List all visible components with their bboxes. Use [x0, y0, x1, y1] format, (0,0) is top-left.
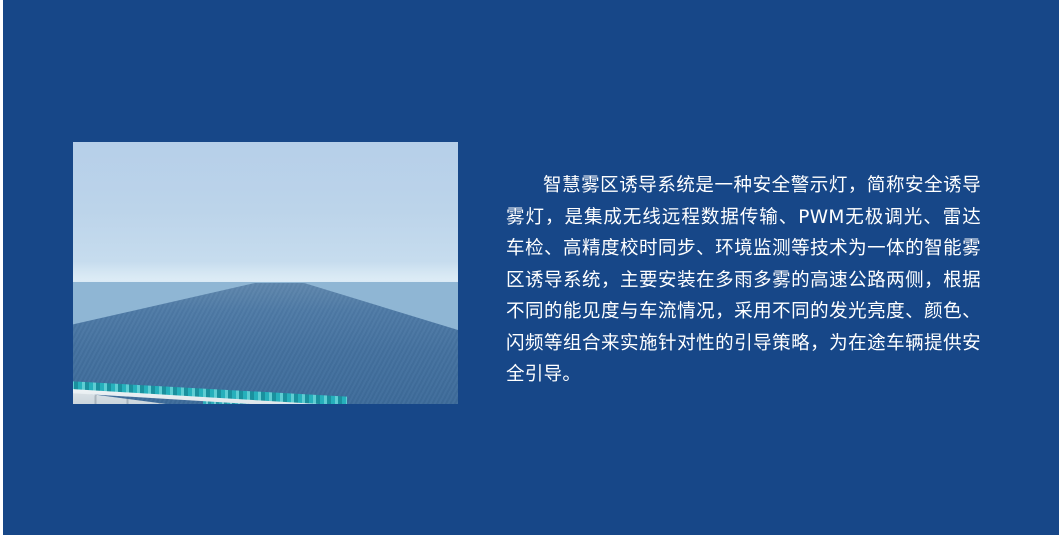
- highway-bridge-photo: [73, 142, 458, 404]
- slide-page: 智慧雾区诱导系统是一种安全警示灯，简称安全诱导雾灯，是集成无线远程数据传输、PW…: [3, 0, 1059, 535]
- product-description-paragraph: 智慧雾区诱导系统是一种安全警示灯，简称安全诱导雾灯，是集成无线远程数据传输、PW…: [506, 170, 981, 391]
- photo-canvas: [73, 142, 458, 404]
- description-text-block: 智慧雾区诱导系统是一种安全警示灯，简称安全诱导雾灯，是集成无线远程数据传输、PW…: [506, 170, 981, 391]
